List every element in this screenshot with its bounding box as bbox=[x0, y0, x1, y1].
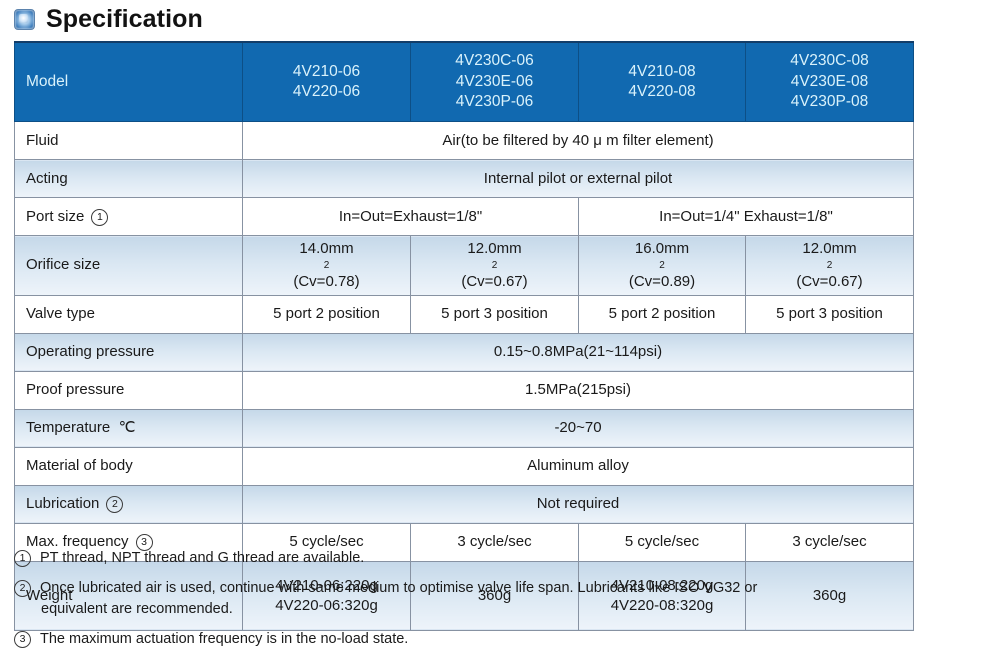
row-label-valve-type: Valve type bbox=[15, 295, 243, 333]
header-col-4-line-1: 4V230C-08 bbox=[752, 51, 907, 71]
footnote-item: 3 The maximum actuation frequency is in … bbox=[14, 629, 974, 650]
orifice-cv-3: (Cv=0.89) bbox=[585, 272, 739, 292]
row-label-port-size: Port size1 bbox=[15, 198, 243, 236]
row-value-fluid: Air(to be filtered by 40 μ m filter elem… bbox=[243, 122, 914, 160]
header-col-4-line-2: 4V230E-08 bbox=[752, 72, 907, 92]
row-value-proof-pressure: 1.5MPa(215psi) bbox=[243, 371, 914, 409]
header-col-3-line-1: 4V210-08 bbox=[585, 62, 739, 82]
row-value-port-size-06: In=Out=Exhaust=1/8" bbox=[243, 198, 579, 236]
row-value-orifice-col-3: 16.0mm2 (Cv=0.89) bbox=[579, 236, 746, 296]
table-row-acting: Acting Internal pilot or external pilot bbox=[15, 160, 914, 198]
header-col-2: 4V230C-06 4V230E-06 4V230P-06 bbox=[411, 42, 579, 122]
table-row-fluid: Fluid Air(to be filtered by 40 μ m filte… bbox=[15, 122, 914, 160]
row-label-operating-pressure: Operating pressure bbox=[15, 333, 243, 371]
footnotes-list: 1 PT thread, NPT thread and G thread are… bbox=[14, 548, 974, 659]
header-col-4-line-3: 4V230P-08 bbox=[752, 92, 907, 112]
orifice-cv-4: (Cv=0.67) bbox=[752, 272, 907, 292]
footnote-item: 1 PT thread, NPT thread and G thread are… bbox=[14, 548, 974, 569]
specification-table: Model 4V210-06 4V220-06 4V230C-06 4V230E… bbox=[14, 41, 914, 631]
blue-square-icon bbox=[14, 9, 35, 30]
row-value-orifice-col-4: 12.0mm2 (Cv=0.67) bbox=[746, 236, 914, 296]
row-value-valve-type-col-1: 5 port 2 position bbox=[243, 295, 411, 333]
specification-page: Specification Model 4V210-06 4V220-06 4V… bbox=[0, 0, 1000, 671]
row-label-temperature: Temperature ℃ bbox=[15, 409, 243, 447]
row-value-valve-type-col-2: 5 port 3 position bbox=[411, 295, 579, 333]
orifice-size-4: 12.0mm2 bbox=[752, 239, 907, 272]
footnote-marker-2: 2 bbox=[14, 580, 31, 597]
row-label-material: Material of body bbox=[15, 447, 243, 485]
row-value-valve-type-col-4: 5 port 3 position bbox=[746, 295, 914, 333]
row-label-temperature-text: Temperature bbox=[26, 419, 110, 436]
footnote-text-2-line-2: equivalent are recommended. bbox=[40, 599, 974, 620]
orifice-cv-2: (Cv=0.67) bbox=[417, 272, 572, 292]
row-value-temperature: -20~70 bbox=[243, 409, 914, 447]
page-title-text: Specification bbox=[46, 7, 203, 32]
row-value-orifice-col-1: 14.0mm2 (Cv=0.78) bbox=[243, 236, 411, 296]
orifice-cv-1: (Cv=0.78) bbox=[249, 272, 404, 292]
header-col-4: 4V230C-08 4V230E-08 4V230P-08 bbox=[746, 42, 914, 122]
header-col-1-line-2: 4V220-06 bbox=[249, 82, 404, 102]
footnote-item: 2 Once lubricated air is used, continue … bbox=[14, 578, 974, 620]
table-row-orifice-size: Orifice size 14.0mm2 (Cv=0.78) 12.0mm2 (… bbox=[15, 236, 914, 296]
orifice-exponent-4: 2 bbox=[752, 259, 907, 272]
row-label-proof-pressure: Proof pressure bbox=[15, 371, 243, 409]
row-label-lubrication: Lubrication2 bbox=[15, 485, 243, 523]
orifice-size-2: 12.0mm2 bbox=[417, 239, 572, 272]
table-row-material: Material of body Aluminum alloy bbox=[15, 447, 914, 485]
row-label-acting: Acting bbox=[15, 160, 243, 198]
table-header-row: Model 4V210-06 4V220-06 4V230C-06 4V230E… bbox=[15, 42, 914, 122]
header-col-1-line-1: 4V210-06 bbox=[249, 62, 404, 82]
page-title: Specification bbox=[14, 2, 203, 36]
table-row-lubrication: Lubrication2 Not required bbox=[15, 485, 914, 523]
footnote-text-1: PT thread, NPT thread and G thread are a… bbox=[40, 548, 974, 569]
row-value-acting: Internal pilot or external pilot bbox=[243, 160, 914, 198]
row-label-orifice-size: Orifice size bbox=[15, 236, 243, 296]
table-row-proof-pressure: Proof pressure 1.5MPa(215psi) bbox=[15, 371, 914, 409]
row-label-fluid: Fluid bbox=[15, 122, 243, 160]
row-value-orifice-col-2: 12.0mm2 (Cv=0.67) bbox=[411, 236, 579, 296]
row-value-lubrication: Not required bbox=[243, 485, 914, 523]
header-col-3: 4V210-08 4V220-08 bbox=[579, 42, 746, 122]
footnote-ref-1: 1 bbox=[91, 209, 108, 226]
footnote-ref-2: 2 bbox=[106, 496, 123, 513]
table-row-port-size: Port size1 In=Out=Exhaust=1/8" In=Out=1/… bbox=[15, 198, 914, 236]
row-value-operating-pressure: 0.15~0.8MPa(21~114psi) bbox=[243, 333, 914, 371]
footnote-text-3: The maximum actuation frequency is in th… bbox=[40, 629, 974, 650]
row-label-lubrication-text: Lubrication bbox=[26, 495, 99, 512]
temperature-unit: ℃ bbox=[119, 419, 136, 436]
footnote-marker-3: 3 bbox=[14, 631, 31, 648]
footnote-text-2-line-1: Once lubricated air is used, continue wi… bbox=[40, 580, 757, 596]
header-col-2-line-2: 4V230E-06 bbox=[417, 72, 572, 92]
row-value-valve-type-col-3: 5 port 2 position bbox=[579, 295, 746, 333]
table-row-temperature: Temperature ℃ -20~70 bbox=[15, 409, 914, 447]
header-col-1: 4V210-06 4V220-06 bbox=[243, 42, 411, 122]
orifice-exponent-2: 2 bbox=[417, 259, 572, 272]
table-row-valve-type: Valve type 5 port 2 position 5 port 3 po… bbox=[15, 295, 914, 333]
orifice-size-1: 14.0mm2 bbox=[249, 239, 404, 272]
footnote-text-2: Once lubricated air is used, continue wi… bbox=[40, 578, 974, 620]
row-value-material: Aluminum alloy bbox=[243, 447, 914, 485]
row-label-port-size-text: Port size bbox=[26, 208, 84, 225]
header-col-2-line-3: 4V230P-06 bbox=[417, 92, 572, 112]
row-value-port-size-08: In=Out=1/4" Exhaust=1/8" bbox=[579, 198, 914, 236]
header-col-3-line-2: 4V220-08 bbox=[585, 82, 739, 102]
header-model-label: Model bbox=[15, 42, 243, 122]
footnote-marker-1: 1 bbox=[14, 550, 31, 567]
orifice-size-3: 16.0mm2 bbox=[585, 239, 739, 272]
table-row-operating-pressure: Operating pressure 0.15~0.8MPa(21~114psi… bbox=[15, 333, 914, 371]
header-col-2-line-1: 4V230C-06 bbox=[417, 51, 572, 71]
orifice-exponent-1: 2 bbox=[249, 259, 404, 272]
orifice-exponent-3: 2 bbox=[585, 259, 739, 272]
